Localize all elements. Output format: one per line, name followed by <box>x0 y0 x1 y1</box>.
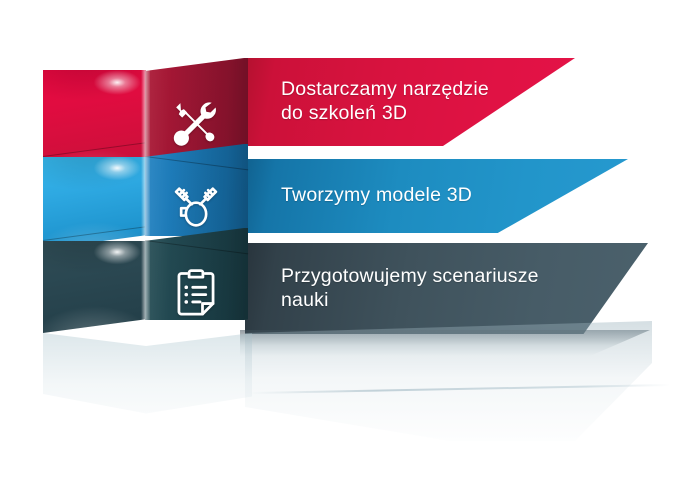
infographic-stage: Dostarczamy narzędzie do szkoleń 3D Twor… <box>0 0 700 497</box>
cube-stack <box>43 53 248 351</box>
floor-horizon-line <box>250 384 670 394</box>
cube-side-scenarios <box>43 241 146 333</box>
ribbon-models-label: Tworzymy modele 3D <box>281 184 472 208</box>
ribbon-reflection <box>245 321 695 471</box>
cube-side-models <box>43 157 146 249</box>
cube-reflection <box>40 333 252 455</box>
ribbon-tools[interactable]: Dostarczamy narzędzie do szkoleń 3D <box>245 58 575 146</box>
floor-reflection <box>40 333 680 483</box>
ribbon-scenarios[interactable]: Przygotowujemy scenariusze nauki <box>245 243 648 334</box>
ribbon-models[interactable]: Tworzymy modele 3D <box>245 159 628 233</box>
ribbon-tools-label: Dostarczamy narzędzie do szkoleń 3D <box>281 78 489 126</box>
ribbon-scenarios-label: Przygotowujemy scenariusze nauki <box>281 265 539 313</box>
